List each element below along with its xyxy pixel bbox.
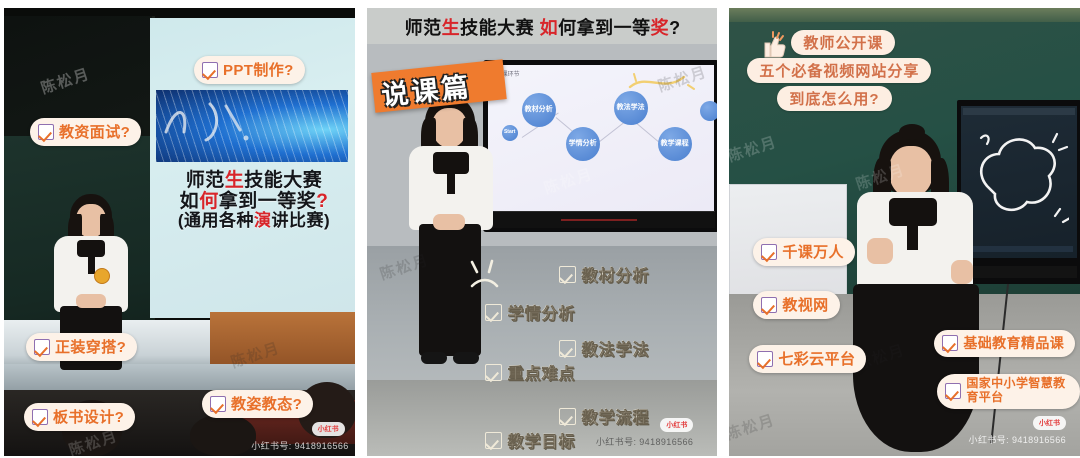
hl-c: 何拿到一等 — [558, 18, 651, 38]
xiaohongshu-badge: 小红书 — [660, 418, 693, 432]
headline-l1b: 技能大赛 — [244, 170, 322, 191]
check-teaching-goal[interactable]: 教学目标 — [485, 428, 576, 452]
panel-lesson-presentation[interactable]: 说课环节 Start 教材分析 学情分析 教法学法 教学课程 — [367, 8, 718, 456]
checkbox-icon — [34, 339, 50, 355]
hl-r3: 奖 — [651, 18, 670, 38]
checkbox-icon — [485, 432, 502, 449]
projected-blue-graphic — [156, 90, 348, 162]
pill-interview[interactable]: 教资面试? — [30, 118, 141, 146]
title-line-3: 到底怎么用? — [777, 86, 891, 111]
headline-l1a: 师范 — [186, 170, 225, 191]
slide-node-1: 教法学法 — [614, 91, 648, 125]
headline-l1r: 生 — [225, 170, 245, 191]
checkbox-icon — [761, 297, 777, 313]
pill-label: 基础教育精品课 — [963, 333, 1064, 353]
checkbox-icon — [210, 396, 226, 412]
pill-posture[interactable]: 教姿教态? — [202, 390, 313, 418]
audience-head-2 — [190, 414, 256, 456]
pill-label: 教视网 — [782, 294, 828, 315]
checkbox-icon — [559, 408, 576, 425]
pill-label: 教姿教态? — [231, 393, 302, 414]
title-line-2-label: 五个必备视频网站分享 — [759, 60, 919, 81]
pill-ppt[interactable]: PPT制作? — [194, 56, 305, 84]
check-label: 教法学法 — [582, 336, 650, 360]
panel3-title: 教师公开课 五个必备视频网站分享 到底怎么用? — [747, 30, 931, 114]
screen-bezel-bar — [487, 211, 715, 228]
pill-jichu-jingpinke[interactable]: 基础教育精品课 — [934, 330, 1075, 357]
pill-label: 正装穿搭? — [55, 336, 126, 357]
panel2-headline: 师范生技能大赛 如何拿到一等奖? — [367, 14, 718, 40]
slide-node-0: 教材分析 — [522, 93, 556, 127]
panel-open-class-websites[interactable]: 陈松月 陈松月 陈松月 陈松月 教师公开课 五个必备视频网站分享 到底怎么用? … — [729, 8, 1080, 456]
checkbox-icon — [945, 383, 961, 399]
pill-label: 国家中小学智慧教育平台 — [966, 377, 1069, 405]
xiaohongshu-badge: 小红书 — [312, 422, 345, 436]
title-line-3-label: 到底怎么用? — [789, 88, 879, 109]
title-line-1: 教师公开课 — [791, 30, 895, 55]
checkbox-icon — [559, 340, 576, 357]
hl-b: 技能大赛 — [460, 18, 540, 38]
slide-node-3: 教学课程 — [658, 127, 692, 161]
headline-l2q: ? — [316, 191, 328, 212]
pill-qiankewanren[interactable]: 千课万人 — [753, 238, 855, 266]
pill-dress[interactable]: 正装穿搭? — [26, 333, 137, 361]
check-textbook-analysis[interactable]: 教材分析 — [559, 262, 650, 286]
pill-qicaiyun[interactable]: 七彩云平台 — [749, 345, 866, 373]
slide-node-2: 学情分析 — [566, 127, 600, 161]
headline-l3b: 讲比赛) — [272, 211, 331, 230]
headline-l2r: 何 — [199, 191, 219, 212]
title-line-2: 五个必备视频网站分享 — [747, 58, 931, 83]
pill-label: 教资面试? — [59, 121, 130, 142]
pill-label: 板书设计? — [53, 406, 124, 427]
teacher-figure-2 — [405, 96, 501, 372]
pill-guojia-zhihui[interactable]: 国家中小学智慧教育平台 — [937, 374, 1080, 409]
pill-blackboard[interactable]: 板书设计? — [24, 403, 135, 431]
check-label: 重点难点 — [508, 360, 576, 384]
headline-l3r: 演 — [254, 211, 272, 230]
panel-teacher-skills-contest[interactable]: 师范生技能大赛 如何拿到一等奖? (通用各种演讲比赛) — [4, 8, 355, 456]
checkbox-icon — [942, 335, 958, 351]
account-footer: 小红书号: 9418916566 — [969, 433, 1066, 446]
check-key-points[interactable]: 重点难点 — [485, 360, 576, 384]
checkbox-icon — [559, 266, 576, 283]
smart-screen: 说课环节 Start 教材分析 学情分析 教法学法 教学课程 — [483, 60, 718, 232]
checkbox-icon — [32, 409, 48, 425]
hl-a: 师范 — [405, 18, 442, 38]
account-footer: 小红书号: 9418916566 — [251, 439, 348, 452]
headline-l2a: 如 — [180, 191, 200, 212]
checkbox-icon — [757, 351, 773, 367]
check-teaching-flow[interactable]: 教学流程 — [559, 404, 650, 428]
checkbox-icon — [38, 124, 54, 140]
headline-l3a: (通用各种 — [178, 211, 254, 230]
three-panel-screenshot-strip: 师范生技能大赛 如何拿到一等奖? (通用各种演讲比赛) — [0, 0, 1080, 458]
xiaohongshu-badge: 小红书 — [1033, 416, 1066, 430]
checkbox-icon — [761, 244, 777, 260]
check-label: 教学目标 — [508, 428, 576, 452]
check-student-analysis[interactable]: 学情分析 — [485, 300, 576, 324]
hl-q: ? — [669, 18, 681, 38]
pill-label: 千课万人 — [782, 241, 844, 262]
pill-label: PPT制作? — [223, 59, 294, 80]
cloud-doodle — [969, 124, 1069, 240]
pill-jiaoshiwang[interactable]: 教视网 — [753, 291, 839, 319]
check-teaching-method[interactable]: 教法学法 — [559, 336, 650, 360]
check-label: 教材分析 — [582, 262, 650, 286]
pill-label: 七彩云平台 — [778, 348, 855, 369]
thumbs-up-icon — [761, 30, 787, 60]
projected-headline: 师范生技能大赛 如何拿到一等奖? (通用各种演讲比赛) — [154, 171, 354, 230]
title-line-1-label: 教师公开课 — [803, 32, 883, 53]
checkbox-icon — [202, 62, 218, 78]
check-label: 教学流程 — [582, 404, 650, 428]
check-label: 学情分析 — [508, 300, 576, 324]
headline-l2b: 拿到一等奖 — [219, 191, 317, 212]
hl-r1: 生 — [442, 18, 461, 38]
checkbox-icon — [485, 304, 502, 321]
slide-sparkle-doodle — [624, 69, 700, 95]
slide-content: 说课环节 Start 教材分析 学情分析 教法学法 教学课程 — [488, 65, 714, 211]
hl-r2: 如 — [540, 18, 559, 38]
account-footer: 小红书号: 9418916566 — [596, 435, 693, 448]
slide-node-start: Start — [502, 125, 518, 141]
checkbox-icon — [485, 364, 502, 381]
